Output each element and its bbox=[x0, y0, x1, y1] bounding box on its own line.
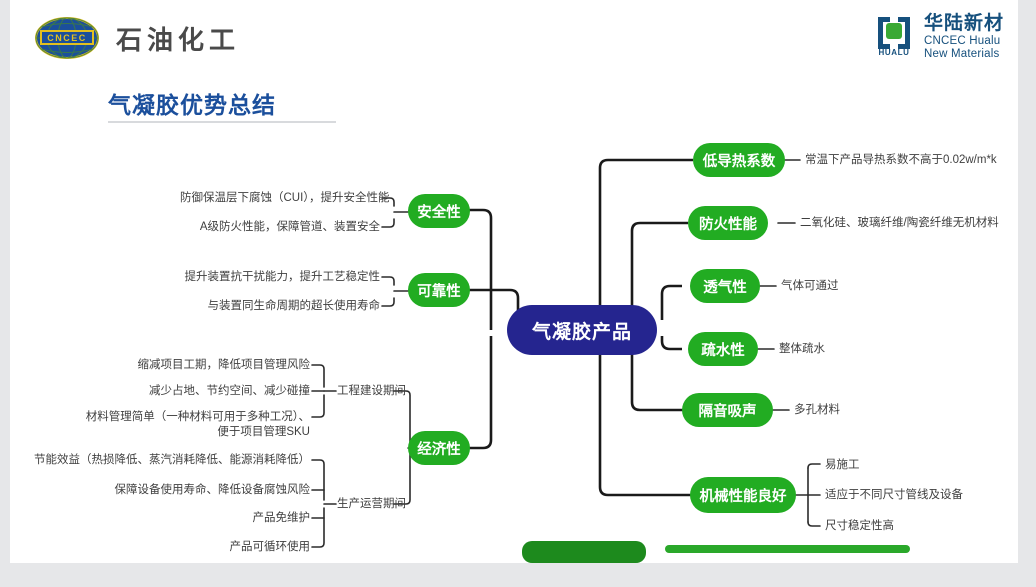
leaf-safety-2: A级防火性能，保障管道、装置安全 bbox=[180, 220, 380, 235]
branch-node-economy[interactable]: 经济性 bbox=[408, 431, 470, 465]
leaf-reliability-2: 与装置同生命周期的超长使用寿命 bbox=[180, 299, 380, 314]
leaf-safety-1: 防御保温层下腐蚀（CUI），提升安全性能 bbox=[180, 191, 380, 206]
leaf-fireproof-1: 二氧化硅、玻璃纤维/陶瓷纤维无机材料 bbox=[800, 216, 999, 231]
branch-node-soundproof[interactable]: 隔音吸声 bbox=[682, 393, 773, 427]
leaf-low-conductivity-1: 常温下产品导热系数不高于0.02w/m*k bbox=[805, 153, 997, 168]
clipped-green-box bbox=[522, 541, 646, 563]
leaf-mechanical-2: 适应于不同尺寸管线及设备 bbox=[825, 488, 963, 503]
leaf-reliability-1: 提升装置抗干扰能力，提升工艺稳定性 bbox=[180, 270, 380, 285]
slide-canvas: CNCEC 石油化工 HUALU 华陆新材 CNCEC Hualu New Ma… bbox=[10, 0, 1018, 563]
mindmap: 气凝胶产品 安全性 可靠性 经济性 工程建设期间 生产运营期间 防御保温层下腐蚀… bbox=[10, 0, 1018, 563]
leaf-breathable-1: 气体可通过 bbox=[781, 279, 839, 294]
clipped-green-bar bbox=[665, 545, 910, 553]
leaf-mechanical-3: 尺寸稳定性高 bbox=[825, 519, 894, 534]
leaf-operation-1: 节能效益（热损降低、蒸汽消耗降低、能源消耗降低） bbox=[30, 453, 310, 468]
leaf-soundproof-1: 多孔材料 bbox=[794, 403, 840, 418]
leaf-mechanical-1: 易施工 bbox=[825, 458, 860, 473]
leaf-operation-3: 产品免维护 bbox=[110, 511, 310, 526]
branch-node-reliability[interactable]: 可靠性 bbox=[408, 273, 470, 307]
leaf-operation-2: 保障设备使用寿命、降低设备腐蚀风险 bbox=[50, 483, 310, 498]
leaf-operation-4: 产品可循环使用 bbox=[110, 540, 310, 555]
branch-node-hydrophobic[interactable]: 疏水性 bbox=[688, 332, 758, 366]
group-label-construction: 工程建设期间 bbox=[337, 384, 406, 399]
leaf-construction-3: 材料管理简单（一种材料可用于多种工况）、 bbox=[70, 410, 310, 425]
leaf-construction-2: 减少占地、节约空间、减少碰撞 bbox=[110, 384, 310, 399]
branch-node-breathable[interactable]: 透气性 bbox=[690, 269, 760, 303]
center-node[interactable]: 气凝胶产品 bbox=[507, 305, 657, 355]
branch-node-mechanical[interactable]: 机械性能良好 bbox=[690, 477, 796, 513]
page-background-strip bbox=[0, 563, 1036, 587]
leaf-hydrophobic-1: 整体疏水 bbox=[779, 342, 825, 357]
branch-node-fireproof[interactable]: 防火性能 bbox=[688, 206, 768, 240]
mindmap-connectors bbox=[10, 0, 1018, 563]
leaf-construction-3-cont: 便于项目管理SKU bbox=[70, 425, 310, 440]
group-label-operation: 生产运营期间 bbox=[337, 497, 406, 512]
leaf-construction-1: 缩减项目工期，降低项目管理风险 bbox=[110, 358, 310, 373]
branch-node-low-conductivity[interactable]: 低导热系数 bbox=[693, 143, 785, 177]
branch-node-safety[interactable]: 安全性 bbox=[408, 194, 470, 228]
